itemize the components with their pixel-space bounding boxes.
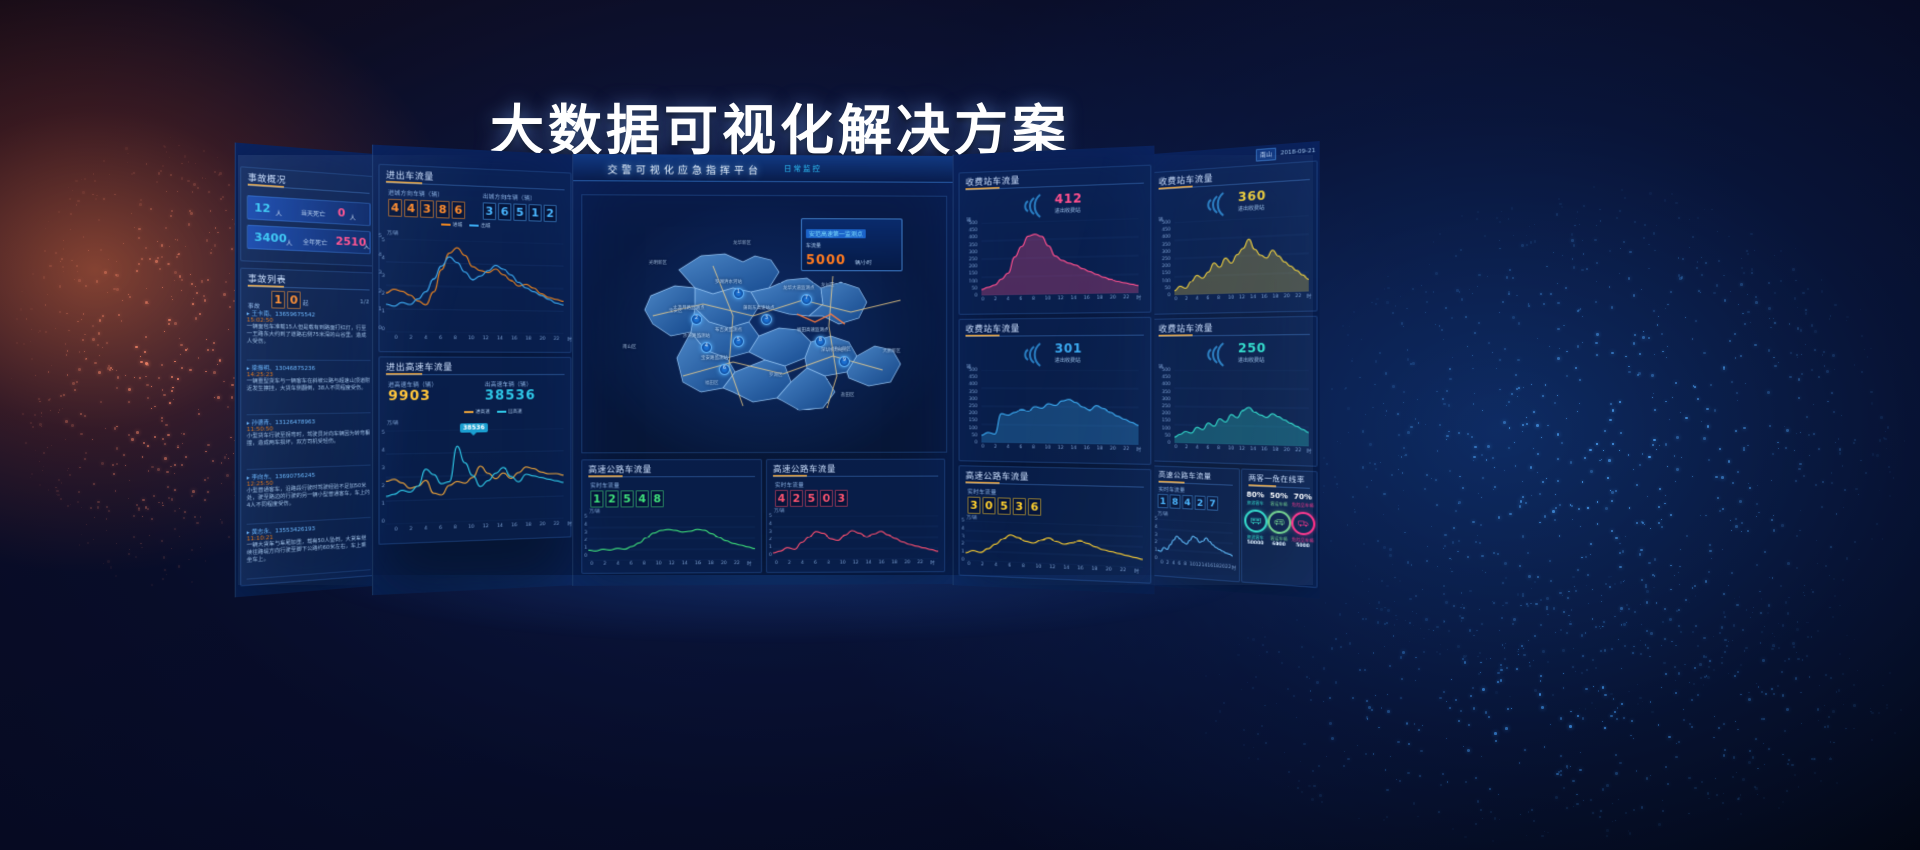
highway-digits: 4 2 5 0 3 [775,490,848,507]
y-tick: 0 [1155,556,1158,561]
x-tick: 6 [1178,562,1181,567]
digit: 4 [775,490,788,507]
digit: 2 [790,490,803,507]
x-tick: 14 [866,561,872,566]
x-tick: 2 [788,561,791,566]
chart-svg [1174,215,1308,295]
x-unit: 时 [1307,448,1312,455]
panel-column-toll-right: 南山 2018-09-21 收费站车流量 360 进出收费站 [1147,141,1320,599]
y-tick: 400 [962,236,978,241]
status-corner: 南山 2018-09-21 [1256,145,1316,162]
digit: 3 [420,200,434,218]
year-death-label: 全年死亡 [303,237,328,247]
y-tick: 1 [584,546,587,551]
y-tick: 5 [382,431,385,436]
current-date: 2018-09-21 [1280,148,1315,157]
x-tick: 2 [1185,297,1188,302]
y-tick: 100 [962,426,978,431]
x-tick: 0 [1161,560,1164,565]
map-marker-label: 坂田高速监测点 [797,327,828,333]
x-tick: 22 [1120,568,1126,573]
x-tick: 10 [1228,446,1234,451]
toll-value: 250 [1238,341,1266,356]
online-rate-percent: 50% [1268,491,1291,500]
map-marker[interactable]: 7 [801,294,812,305]
y-tick: 250 [1155,257,1171,263]
highway-in-label: 进高速车辆（辆） [388,380,437,388]
map-area-label: 大鹏新区 [883,348,901,354]
highway-panel-1: 高速公路车流量 实时车流量 1 2 5 4 8 万/辆 543210 02468… [581,459,762,574]
x-tick: 4 [801,561,804,566]
dashboard-mode-tab[interactable]: 日常监控 [784,163,822,174]
x-tick: 16 [1084,296,1090,301]
accident-detail: 小型货车行驶至拐弯时，驾驶员对向车辆因为转弯相撞，造成两车损坏，双方司机受轻伤。 [247,430,371,448]
chart-svg [981,218,1138,295]
map-area-label: 龙岗区 [821,282,834,288]
y-tick: 1 [382,309,385,314]
y-tick: 0 [382,519,385,524]
highway-digits: 1 8 4 2 7 [1158,494,1218,511]
x-tick: 6 [439,526,442,531]
x-tick: 12 [483,524,489,529]
map-marker-id: 7 [802,295,811,302]
y-tick: 2 [382,484,385,489]
x-tick: 12 [1058,446,1064,451]
legend-entry: 进城 [441,221,462,228]
y-tick: 450 [962,375,978,380]
y-tick: 350 [1155,242,1171,248]
x-tick: 4 [424,526,427,531]
x-tick: 20 [1110,295,1116,300]
callout-title: 安范高速第一监测点 [806,229,866,238]
highway-panel-4: 高速公路车流量 实时车流量 1 8 4 2 7 万/辆 543210 02468… [1152,465,1240,582]
highway-in-out-panel: 进出高速车流量 进高速车辆（辆） 9903 出高速车辆（辆） 38536 进高速… [378,356,571,544]
y-tick: 2 [769,537,772,542]
x-tick: 14 [1250,447,1256,452]
map-marker[interactable]: 1 [733,288,744,299]
y-tick: 5 [584,515,587,520]
particle-field-right [1290,170,1920,730]
title-rule [965,335,1143,337]
online-rate-percent: 80% [1244,490,1266,499]
x-tick: 22 [1123,295,1129,300]
map-marker-id: 5 [734,337,743,344]
digit: 5 [513,203,526,221]
map-marker[interactable]: 2 [691,314,702,325]
x-tick: 2 [409,336,412,341]
chart-svg [386,428,564,524]
x-tick: 0 [1174,297,1177,302]
toll-x-ticks: 0246810121416182022时 [960,318,1151,320]
toll-title: 收费站车流量 [965,322,1019,335]
x-tick: 4 [1172,561,1175,566]
y-tick: 450 [1155,375,1171,380]
in-out-flow-chart: 543210 [386,238,564,334]
x-tick: 14 [682,561,688,566]
highway-in-value: 9903 [388,389,431,405]
x-tick: 16 [1261,295,1267,300]
title-rule [386,374,565,375]
x-tick: 18 [1272,294,1278,299]
map-area-label: 盐田区 [841,392,854,398]
online-rate-title: 两客一危在线率 [1248,473,1304,486]
y-tick: 400 [1155,235,1171,241]
panel-column-center: 交警可视化应急指挥平台 日常监控 [572,154,953,586]
x-tick: 6 [1206,296,1209,301]
day-accident-count: 12 [254,201,270,216]
y-tick: 300 [1155,397,1171,402]
x-tick: 2 [1185,445,1188,450]
y-tick: 5 [382,238,385,243]
y-tick: 4 [584,522,587,527]
map-marker-label: 宝安路监测站 [701,355,728,361]
map-marker-label: 蒲岗东高速站点 [743,305,774,311]
x-tick: 4 [1007,297,1010,302]
y-tick: 5 [962,518,965,523]
toll-label: 进出收费站 [1055,207,1081,215]
online-rate-name: 客运车辆 [1268,501,1291,508]
digit: 1 [529,204,542,222]
x-tick: 18 [892,560,898,565]
y-tick: 150 [1155,419,1171,424]
x-tick: 8 [454,525,457,530]
digit: 2 [605,490,618,507]
x-tick: 0 [1174,445,1177,450]
y-tick: 300 [962,250,978,255]
x-unit: 时 [1136,447,1141,453]
x-tick: 0 [395,336,398,341]
y-tick: 3 [962,534,965,539]
region-map[interactable]: 1罗湖清水河站2大漠月路监测点3蒲岗东高速站点4沙湾路监测站5布吉关监测点6宝安… [581,194,947,453]
y-tick: 150 [962,272,978,277]
x-tick: 8 [1217,446,1220,451]
y-tick: 3 [382,274,385,279]
toll-title: 收费站车流量 [1159,322,1214,335]
x-tick: 20 [721,561,727,566]
particle-field-bottom [1180,560,1920,850]
toll-label: 进出收费站 [1238,204,1264,213]
y-tick: 4 [962,526,965,531]
y-axis-unit: 万/辆 [774,508,785,514]
digit: 3 [967,497,980,514]
online-rate-ring [1291,511,1315,536]
gauge-arcs [1018,339,1053,370]
callout-value: 5000 [806,253,846,268]
gauge-arcs [1201,339,1236,370]
y-tick: 350 [962,390,978,395]
y-tick: 1 [382,502,385,507]
y-tick: 350 [962,243,978,248]
gauge-arcs [1201,188,1236,221]
y-tick: 3 [382,466,385,471]
online-rate-count: 50000 [1244,540,1266,547]
highway-panel-title: 高速公路车流量 [588,463,651,475]
y-tick: 500 [1155,220,1171,226]
year-accident-unit: 人 [286,238,292,248]
x-tick: 4 [1196,445,1199,450]
map-marker-id: 3 [762,315,771,322]
highway-out-label: 出高速车辆（辆） [485,380,532,388]
map-marker-label: 罗湖清水河站 [715,279,742,285]
online-rate-item[interactable]: 70%危险品车辆危险品车辆5000 [1291,492,1314,549]
toll-label: 进出收费站 [1238,356,1264,363]
accident-summary-panel: 事故概况 12 人 当天死亡 0 人 3400 人 全年死亡 2510 [240,166,376,266]
x-tick: 8 [1217,296,1220,301]
list-item[interactable]: ▸ 梁振明、1304687523614:25:23一辆重型货车与一辆客车在斜坡公… [247,364,371,393]
x-tick: 4 [424,336,427,341]
list-item[interactable]: ▸ 李向东、1369075624512:25:50小型普通客车，沿路段行驶时驾驶… [247,469,371,511]
x-unit: 时 [1134,568,1139,574]
x-tick: 14 [1250,295,1256,300]
y-tick: 100 [1155,279,1171,285]
x-tick: 20 [904,560,910,565]
map-shape [582,195,946,452]
title-rule [965,482,1143,487]
x-tick: 0 [981,297,984,302]
x-tick: 6 [1019,445,1022,450]
x-tick: 18 [1097,296,1103,301]
online-rate-item[interactable]: 50%客运车辆客运车辆6000 [1268,491,1291,548]
map-area-label: 罗湖区 [769,372,782,378]
x-tick: 16 [879,560,885,565]
x-tick: 2 [994,445,997,450]
accident-list-page: 1/2 [360,299,370,305]
dashboard-header: 交警可视化应急指挥平台 日常监控 [573,154,953,183]
list-item[interactable]: ▸ 孙德青、1312647896311:50:50小型货车行驶至拐弯时，驾驶员对… [247,416,371,448]
highway-in-out-legend: 进高速 出高速 [464,409,522,416]
toll-chart [981,218,1138,295]
accident-counter-unit: 起 [303,299,309,307]
highway-digits: 3 0 5 3 6 [967,497,1041,516]
y-axis-unit: 万/辆 [1158,511,1168,518]
x-tick: 20 [1284,448,1290,453]
x-tick: 6 [1019,297,1022,302]
y-tick: 3 [1155,532,1158,537]
legend-entry: 出城 [470,222,491,229]
region-chip[interactable]: 南山 [1256,148,1276,162]
x-tick: 16 [511,523,517,528]
x-tick: 20 [1106,567,1112,572]
inbound-digits: 4 4 3 8 6 [388,199,465,219]
x-tick: 6 [1206,446,1209,451]
highway-panel-3: 高速公路车流量 实时车流量 3 0 5 3 6 万/辆 543210 02468… [959,465,1152,584]
x-tick: 18 [1097,446,1103,451]
x-unit: 时 [1231,565,1236,572]
highway-chart [1158,519,1233,564]
coach-icon [1274,519,1285,526]
y-tick: 100 [1155,426,1171,431]
toll-y-ticks: 500450400350300250200150100500 [960,166,1151,174]
list-divider [247,412,371,415]
y-tick: 0 [962,558,965,563]
toll-label: 进出收费站 [1055,357,1081,364]
legend-entry: 进高速 [464,409,490,415]
x-tick: 20 [1284,294,1290,299]
x-unit: 时 [1136,295,1141,301]
digit: 0 [820,490,833,507]
highway-sub: 实时车流量 [967,488,996,497]
chart-svg [588,516,755,561]
online-rate-name: 旅游客车 [1244,500,1266,507]
digit: 0 [287,291,301,309]
x-tick: 2 [994,297,997,302]
toll-x-ticks: 0246810121416182022时 [1153,162,1317,174]
map-marker[interactable]: 3 [761,314,772,325]
y-tick: 4 [1155,525,1158,530]
map-area-label: 坪山新区 [833,346,851,352]
y-tick: 250 [1155,404,1171,409]
x-tick: 16 [1077,566,1083,571]
digit: 2 [1195,495,1206,510]
x-tick: 8 [1022,564,1025,569]
chart-svg [1158,519,1233,564]
highway-digits: 1 2 5 4 8 [590,490,663,507]
x-tick: 10 [656,561,662,566]
digit: 5 [621,490,634,507]
y-axis-unit: 万/辆 [387,230,398,237]
list-divider [247,359,371,360]
y-tick: 0 [1155,440,1171,445]
x-tick: 10 [1045,296,1051,301]
highway-panel-title: 高速公路车流量 [1159,470,1212,482]
toll-panel-1: 收费站车流量 412 进出收费站 辆 500450400 [959,165,1152,315]
accident-person: ▸ 梁振明、13046875236 [247,364,371,372]
map-marker-id: 4 [702,343,711,350]
x-tick: 4 [994,563,997,568]
highway-out-value: 38536 [485,388,536,404]
y-tick: 50 [1155,286,1171,292]
panel-column-toll-left: 收费站车流量 412 进出收费站 辆 500450400 [953,146,1155,595]
toll-y-ticks: 500450400350300250200150100500 [1153,317,1317,320]
y-tick: 250 [962,257,978,262]
x-tick: 14 [1071,296,1077,301]
x-tick: 10 [1228,296,1234,301]
y-tick: 1 [769,545,772,550]
toll-value: 412 [1055,191,1083,206]
y-tick: 4 [769,522,772,527]
x-tick: 12 [853,561,859,566]
y-tick: 1 [962,550,965,555]
map-marker-id: 1 [734,289,743,296]
x-tick: 18 [1272,448,1278,453]
outbound-digits: 3 6 5 1 2 [483,202,557,222]
map-marker-id: 9 [840,357,849,364]
map-marker[interactable]: 8 [815,336,826,347]
digit: 6 [452,201,466,219]
accident-summary-row: 12 人 当天死亡 0 人 [247,195,371,226]
x-tick: 16 [511,336,517,341]
y-tick: 250 [962,404,978,409]
y-tick: 0 [584,554,587,559]
y-tick: 2 [382,292,385,297]
digit: 3 [483,202,496,220]
chart-svg [1174,370,1308,446]
chart-svg [386,238,564,334]
digit: 5 [805,490,818,507]
x-tick: 10 [1036,565,1042,570]
x-tick: 14 [1063,566,1069,571]
x-tick: 22 [1295,448,1301,453]
x-tick: 22 [554,522,560,527]
toll-title: 收费站车流量 [965,174,1019,188]
y-tick: 400 [962,382,978,387]
y-tick: 4 [372,252,382,258]
x-tick: 12 [483,336,489,341]
x-tick: 2 [603,562,606,567]
accident-list-panel: 事故列表 事故 1 0 起 1/2 ▸ 王卡南、1365967554215:02… [240,268,376,587]
accident-detail: 一辆面包车准载15人但是载有到路面打红灯，行至一王路东大约到了道路右侧75米深的… [247,324,371,347]
y-axis-unit: 万/辆 [589,509,600,515]
map-marker-id: 8 [816,337,825,344]
highway-in-out-y-ticks: 543210 [380,357,571,358]
list-item[interactable]: ▸ 王卡南、1365967554215:02:50一辆面包车准载15人但是载有到… [247,309,371,347]
highway-in-out-title: 进出高速车流量 [386,361,453,374]
highway-panel-title: 高速公路车流量 [773,463,836,475]
map-marker[interactable]: 9 [839,356,850,367]
map-callout: 安范高速第一监测点 车流量 5000 辆/小时 [801,218,903,271]
x-tick: 0 [967,562,970,567]
y-tick: 5 [1155,517,1158,522]
x-tick: 10 [840,561,846,566]
y-tick: 50 [962,286,978,291]
truck-icon [1298,520,1309,528]
x-tick: 20 [540,522,546,527]
x-tick: 2 [409,527,412,532]
highway-sub: 实时车流量 [775,481,804,489]
digit: 3 [1013,498,1026,516]
y-tick: 0 [1155,293,1171,298]
x-tick: 20 [540,337,546,342]
x-unit: 时 [1307,294,1312,300]
accident-detail: 小型普通客车，沿路段行驶时驾驶经验不足加50米处，驶至路边的行驶的另一辆小型普通… [247,483,371,510]
in-out-flow-legend: 进城 出城 [441,221,490,229]
toll-panel-3: 收费站车流量 301 进出收费站 辆 500450400 [959,317,1152,465]
map-marker-id: 2 [692,315,701,322]
map-marker[interactable]: 6 [719,364,730,375]
gauge-arcs [1018,190,1053,222]
y-tick: 3 [769,530,772,535]
x-tick: 0 [395,527,398,532]
map-marker[interactable]: 4 [701,342,712,353]
day-accident-unit: 人 [276,208,282,218]
x-tick: 12 [1058,296,1064,301]
list-item[interactable]: ▸ 黄志永、1355342619311:10:21一辆大货车与车厢加重，载有50… [247,521,371,565]
x-tick: 6 [1008,563,1011,568]
toll-value: 360 [1238,188,1266,204]
y-tick: 50 [962,433,978,438]
x-tick: 12 [1049,565,1055,570]
x-unit: 时 [930,560,934,566]
y-tick: 2 [584,538,587,543]
highway-in-out-chart [386,428,564,524]
online-rate-item[interactable]: 80%旅游客车旅游客车50000 [1244,490,1266,546]
digit: 0 [982,497,995,515]
map-marker-label: 深圳机场站点 [821,347,848,353]
map-marker[interactable]: 5 [733,336,744,347]
x-tick: 12 [1239,295,1245,300]
title-underline [773,475,807,477]
x-tick: 16 [695,561,701,566]
x-tick: 0 [981,445,984,450]
y-tick: 5 [769,514,772,519]
highway-in-out-x-ticks: 0246810121416182022时 [380,357,571,358]
legend-entry: 出高速 [497,409,522,415]
x-tick: 22 [1295,294,1301,299]
x-tick: 12 [1239,447,1245,452]
toll-chart [1174,215,1308,295]
title-rule [248,286,370,291]
y-tick: 300 [962,397,978,402]
